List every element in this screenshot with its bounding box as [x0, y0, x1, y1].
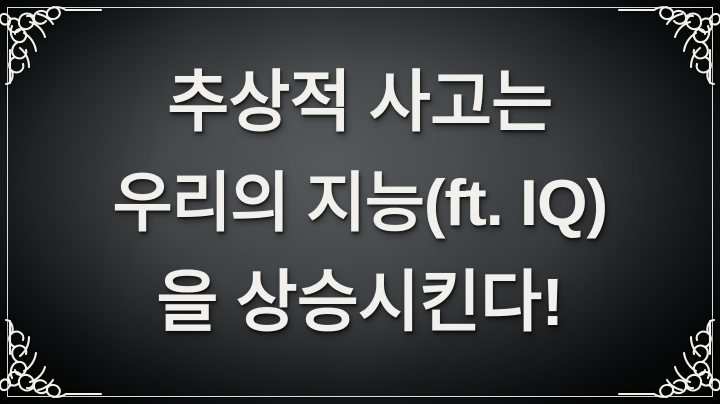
- title-block: 추상적 사고는 우리의 지능(ft. IQ) 을 상승시킨다!: [0, 51, 720, 353]
- title-line-1: 추상적 사고는: [0, 53, 720, 153]
- title-card: 추상적 사고는 우리의 지능(ft. IQ) 을 상승시킨다!: [0, 0, 720, 404]
- title-line-2: 우리의 지능(ft. IQ): [0, 153, 720, 253]
- title-line-3: 을 상승시킨다!: [0, 253, 720, 353]
